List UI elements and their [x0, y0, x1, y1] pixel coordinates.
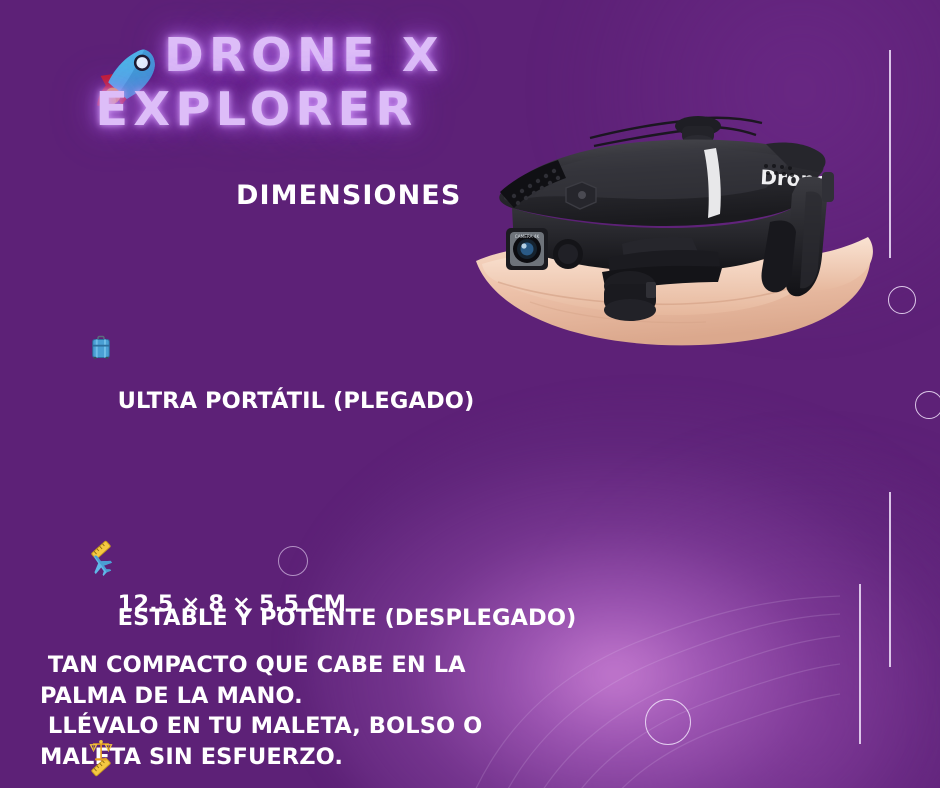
poster-canvas: Drone X Explorer — [0, 0, 940, 788]
feature-heading: ESTABLE Y POTENTE (DESPLEGADO) — [118, 604, 577, 630]
feature-heading: ULTRA PORTÁTIL (PLEGADO) — [118, 387, 475, 413]
deco-line-2 — [859, 584, 861, 744]
drone-body-label: Drone — [760, 165, 829, 193]
svg-text:CAMERA 4K: CAMERA 4K — [515, 234, 540, 239]
luggage-icon — [88, 274, 114, 298]
brand-logo-line2: Explorer — [95, 82, 580, 136]
deco-line-1 — [889, 50, 891, 258]
deco-circle-1 — [888, 286, 916, 314]
page-title: DIMENSIONES — [236, 180, 461, 211]
propeller-blades — [590, 118, 762, 146]
brand-logo-text: Drone X Explorer — [164, 28, 580, 136]
brand-logo: Drone X Explorer — [86, 26, 506, 166]
deco-line-3 — [889, 492, 891, 667]
scales-icon — [88, 677, 114, 701]
brand-logo-line1: Drone X — [164, 28, 580, 82]
airplane-icon — [88, 491, 114, 515]
feature-heading-row: ULTRA PORTÁTIL (PLEGADO) — [40, 243, 660, 447]
feature-heading-row: LIVIANO PERO RESISTENTE — [40, 646, 660, 788]
feature-heading-row: ESTABLE Y POTENTE (DESPLEGADO) — [40, 460, 660, 664]
deco-circle-2 — [915, 391, 940, 419]
feature-block-lightweight: LIVIANO PERO RESISTENTE SOLO 0.35 KG, FA… — [40, 646, 660, 788]
vent-grille — [500, 160, 566, 208]
